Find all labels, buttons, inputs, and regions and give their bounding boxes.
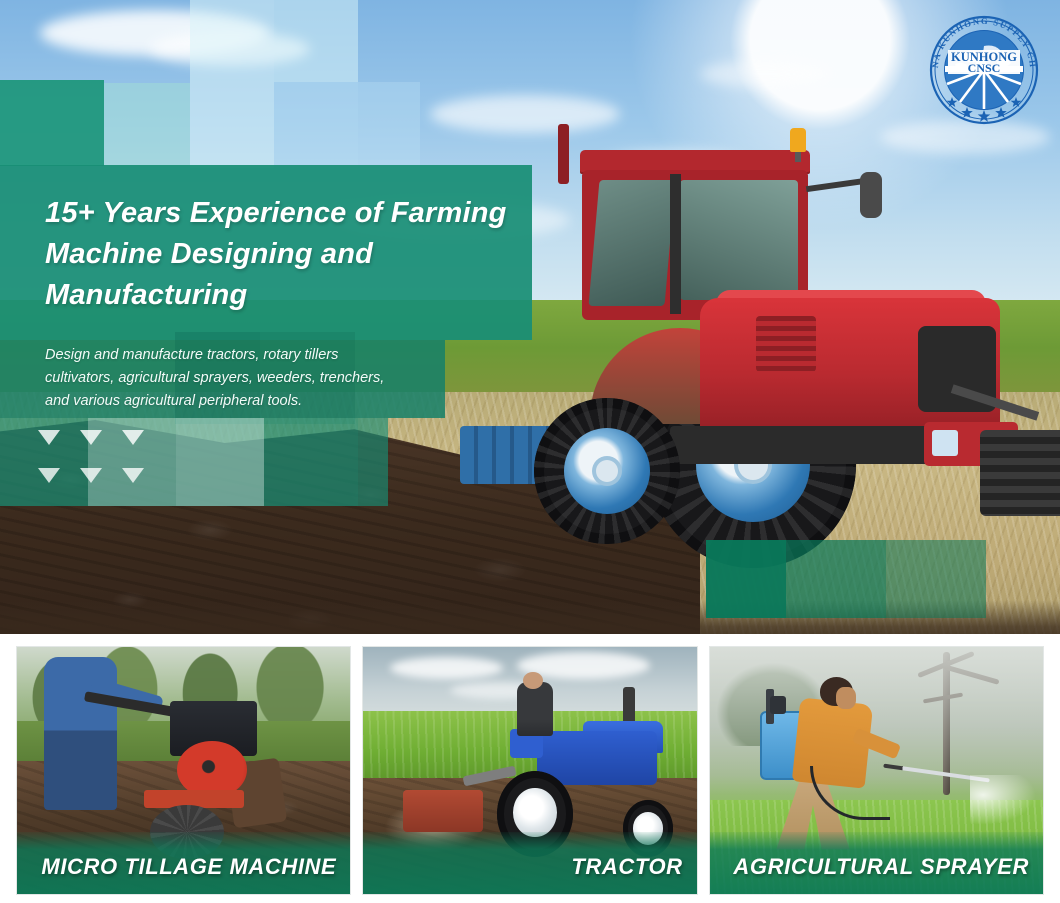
decorative-square [274,82,358,168]
triangle-down-icon [80,468,102,483]
product-card-row: MICRO TILLAGE MACHINE TRACTOR [0,646,1060,903]
card-label-text: MICRO TILLAGE MACHINE [41,854,336,880]
decorative-green-block [706,540,786,618]
tractor-beacon [790,128,806,152]
logo-brand-line2: CNSC [968,61,1001,75]
triangle-down-icon [80,430,102,445]
decorative-square [104,83,190,167]
decorative-green-block [786,540,886,618]
card-label-overlay: AGRICULTURAL SPRAYER [710,832,1043,894]
tractor-cab-pillar [670,174,681,314]
tractor-hood-louvre [756,316,816,372]
decorative-green-block [886,540,986,618]
card-label-text: AGRICULTURAL SPRAYER [733,854,1029,880]
card-label-overlay: TRACTOR [363,832,696,894]
triangle-decoration-grid [38,430,148,498]
tractor-exhaust [558,124,569,184]
hero-headline: 15+ Years Experience of Farming Machine … [45,193,515,317]
cloud [430,95,620,133]
tractor-front-hitch [980,430,1060,516]
company-logo: KUNHONG CNSC CHINA KUNHONG SUPPLY CHAIN [922,8,1046,132]
tractor-headlight [932,430,958,456]
triangle-down-icon [122,430,144,445]
decorative-square [190,0,274,168]
card-tractor[interactable]: TRACTOR [362,646,697,895]
decorative-band-tile [176,418,264,506]
triangle-down-icon [122,468,144,483]
decorative-square [0,80,104,166]
tractor-front-hub [596,460,618,482]
tractor-windshield [680,180,798,300]
card-label-text: TRACTOR [571,854,682,880]
promo-banner: 15+ Years Experience of Farming Machine … [0,0,1060,903]
tractor-side-window [588,180,675,306]
card-agricultural-sprayer[interactable]: AGRICULTURAL SPRAYER [709,646,1044,895]
decorative-square [274,0,358,82]
decorative-square [358,82,420,168]
triangle-down-icon [38,468,60,483]
tractor-cab-roof [580,150,810,172]
tractor-mirror [860,172,882,218]
red-tractor-image [520,130,1060,550]
hero-section: 15+ Years Experience of Farming Machine … [0,0,1060,634]
card-micro-tillage-machine[interactable]: MICRO TILLAGE MACHINE [16,646,351,895]
tractor-mirror-arm [806,178,866,192]
card-label-overlay: MICRO TILLAGE MACHINE [17,832,350,894]
triangle-down-icon [38,430,60,445]
cloud [700,60,830,88]
hero-subtitle: Design and manufacture tractors, rotary … [45,344,465,413]
decorative-band-strip [358,418,388,506]
